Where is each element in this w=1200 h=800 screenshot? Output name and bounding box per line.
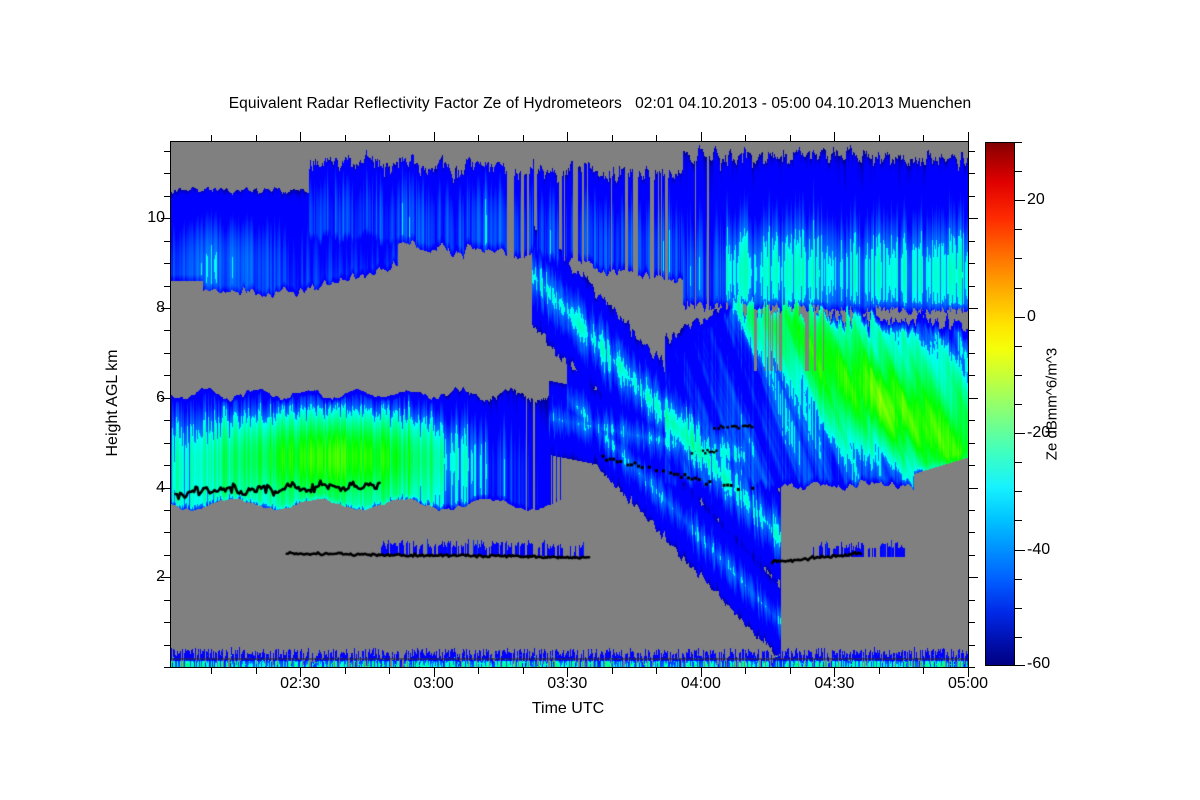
x-tick (745, 667, 746, 674)
x-tick-top (612, 135, 613, 142)
y-tick-label: 10 (147, 209, 165, 227)
x-tick-top (211, 135, 212, 142)
y-tick-right (968, 420, 975, 421)
x-tick-top (389, 135, 390, 142)
y-tick-right (968, 488, 978, 489)
y-tick-right (968, 667, 975, 668)
x-tick (879, 667, 880, 674)
figure-root: Equivalent Radar Reflectivity Factor Ze … (0, 0, 1200, 800)
x-tick-label: 02:30 (280, 675, 320, 693)
x-tick (523, 667, 524, 674)
x-tick-top (834, 132, 835, 142)
colorbar-title: Ze dBmm^6/m^3 (1044, 348, 1061, 460)
y-tick-right (968, 532, 975, 533)
colorbar-tick (1015, 579, 1022, 580)
colorbar-tick (1015, 637, 1022, 638)
x-tick (389, 667, 390, 674)
y-tick-label: 6 (156, 389, 165, 407)
y-tick-right (968, 375, 975, 376)
x-tick-top (656, 135, 657, 142)
colorbar-tick (1015, 665, 1025, 666)
y-tick (164, 667, 171, 668)
x-tick (478, 667, 479, 674)
y-tick (164, 196, 171, 197)
x-tick-top (790, 135, 791, 142)
y-tick-right (968, 555, 975, 556)
x-tick-top (745, 135, 746, 142)
y-tick-right (968, 308, 978, 309)
x-tick (790, 667, 791, 674)
x-tick-label: 04:30 (814, 675, 854, 693)
colorbar-tick (1015, 317, 1025, 318)
y-tick (164, 420, 171, 421)
y-tick (164, 353, 171, 354)
x-axis-title: Time UTC (532, 700, 604, 718)
colorbar-tick (1015, 433, 1025, 434)
colorbar: -60-40-20020 (985, 142, 1015, 666)
colorbar-tick (1015, 520, 1022, 521)
y-tick (164, 622, 171, 623)
x-tick-top (701, 132, 702, 142)
x-tick (211, 667, 212, 674)
y-tick-right (968, 443, 975, 444)
y-axis-title: Height AGL km (104, 349, 122, 456)
y-tick-right (968, 151, 975, 152)
x-tick-label: 03:30 (547, 675, 587, 693)
y-tick (164, 151, 171, 152)
colorbar-tick (1015, 491, 1022, 492)
colorbar-tick (1015, 229, 1022, 230)
y-tick-right (968, 622, 975, 623)
x-tick-top (879, 135, 880, 142)
colorbar-tick-label: -60 (1027, 655, 1050, 673)
colorbar-tick (1015, 346, 1022, 347)
y-tick-right (968, 218, 978, 219)
y-tick-right (968, 398, 978, 399)
y-tick-right (968, 241, 975, 242)
y-tick (164, 375, 171, 376)
y-tick-right (968, 600, 975, 601)
x-tick-top (478, 135, 479, 142)
colorbar-tick (1015, 375, 1022, 376)
x-tick-top (256, 135, 257, 142)
y-tick-right (968, 330, 975, 331)
x-tick-top (434, 132, 435, 142)
colorbar-tick-label: -40 (1027, 541, 1050, 559)
y-tick-right (968, 263, 975, 264)
y-tick-right (968, 645, 975, 646)
y-tick (164, 510, 171, 511)
x-tick (656, 667, 657, 674)
colorbar-tick (1015, 142, 1022, 143)
colorbar-tick (1015, 288, 1022, 289)
x-tick (345, 667, 346, 674)
colorbar-tick (1015, 200, 1025, 201)
y-tick-label: 4 (156, 479, 165, 497)
x-tick-label: 05:00 (948, 675, 988, 693)
x-tick-top (923, 135, 924, 142)
y-tick (164, 465, 171, 466)
x-tick (612, 667, 613, 674)
heatmap-axes: 24681002:3003:0003:3004:0004:3005:00 (170, 141, 969, 668)
page-title: Equivalent Radar Reflectivity Factor Ze … (0, 95, 1200, 113)
y-tick-right (968, 353, 975, 354)
y-tick-right (968, 510, 975, 511)
y-tick-right (968, 577, 978, 578)
y-tick-right (968, 196, 975, 197)
y-tick-right (968, 465, 975, 466)
colorbar-tick (1015, 404, 1022, 405)
y-tick (164, 241, 171, 242)
y-tick (164, 173, 171, 174)
y-tick (164, 263, 171, 264)
y-tick (164, 330, 171, 331)
colorbar-tick-label: 0 (1027, 308, 1036, 326)
x-tick-top (523, 135, 524, 142)
colorbar-gradient (985, 142, 1015, 666)
x-tick-top (345, 135, 346, 142)
colorbar-tick-label: 20 (1027, 191, 1045, 209)
y-tick-label: 2 (156, 568, 165, 586)
y-tick-right (968, 173, 975, 174)
colorbar-tick (1015, 258, 1022, 259)
x-tick-top (300, 132, 301, 142)
colorbar-tick (1015, 608, 1022, 609)
y-tick (164, 555, 171, 556)
y-tick (164, 600, 171, 601)
y-tick-right (968, 286, 975, 287)
colorbar-tick (1015, 171, 1022, 172)
x-tick-label: 04:00 (681, 675, 721, 693)
y-tick-label: 8 (156, 299, 165, 317)
x-tick (256, 667, 257, 674)
x-tick-label: 03:00 (414, 675, 454, 693)
x-tick-top (968, 132, 969, 142)
colorbar-tick (1015, 550, 1025, 551)
x-tick (923, 667, 924, 674)
x-tick-top (567, 132, 568, 142)
y-tick (164, 286, 171, 287)
y-tick (164, 532, 171, 533)
colorbar-tick (1015, 462, 1022, 463)
radar-reflectivity-heatmap (171, 142, 968, 667)
y-tick (164, 645, 171, 646)
y-tick (164, 443, 171, 444)
